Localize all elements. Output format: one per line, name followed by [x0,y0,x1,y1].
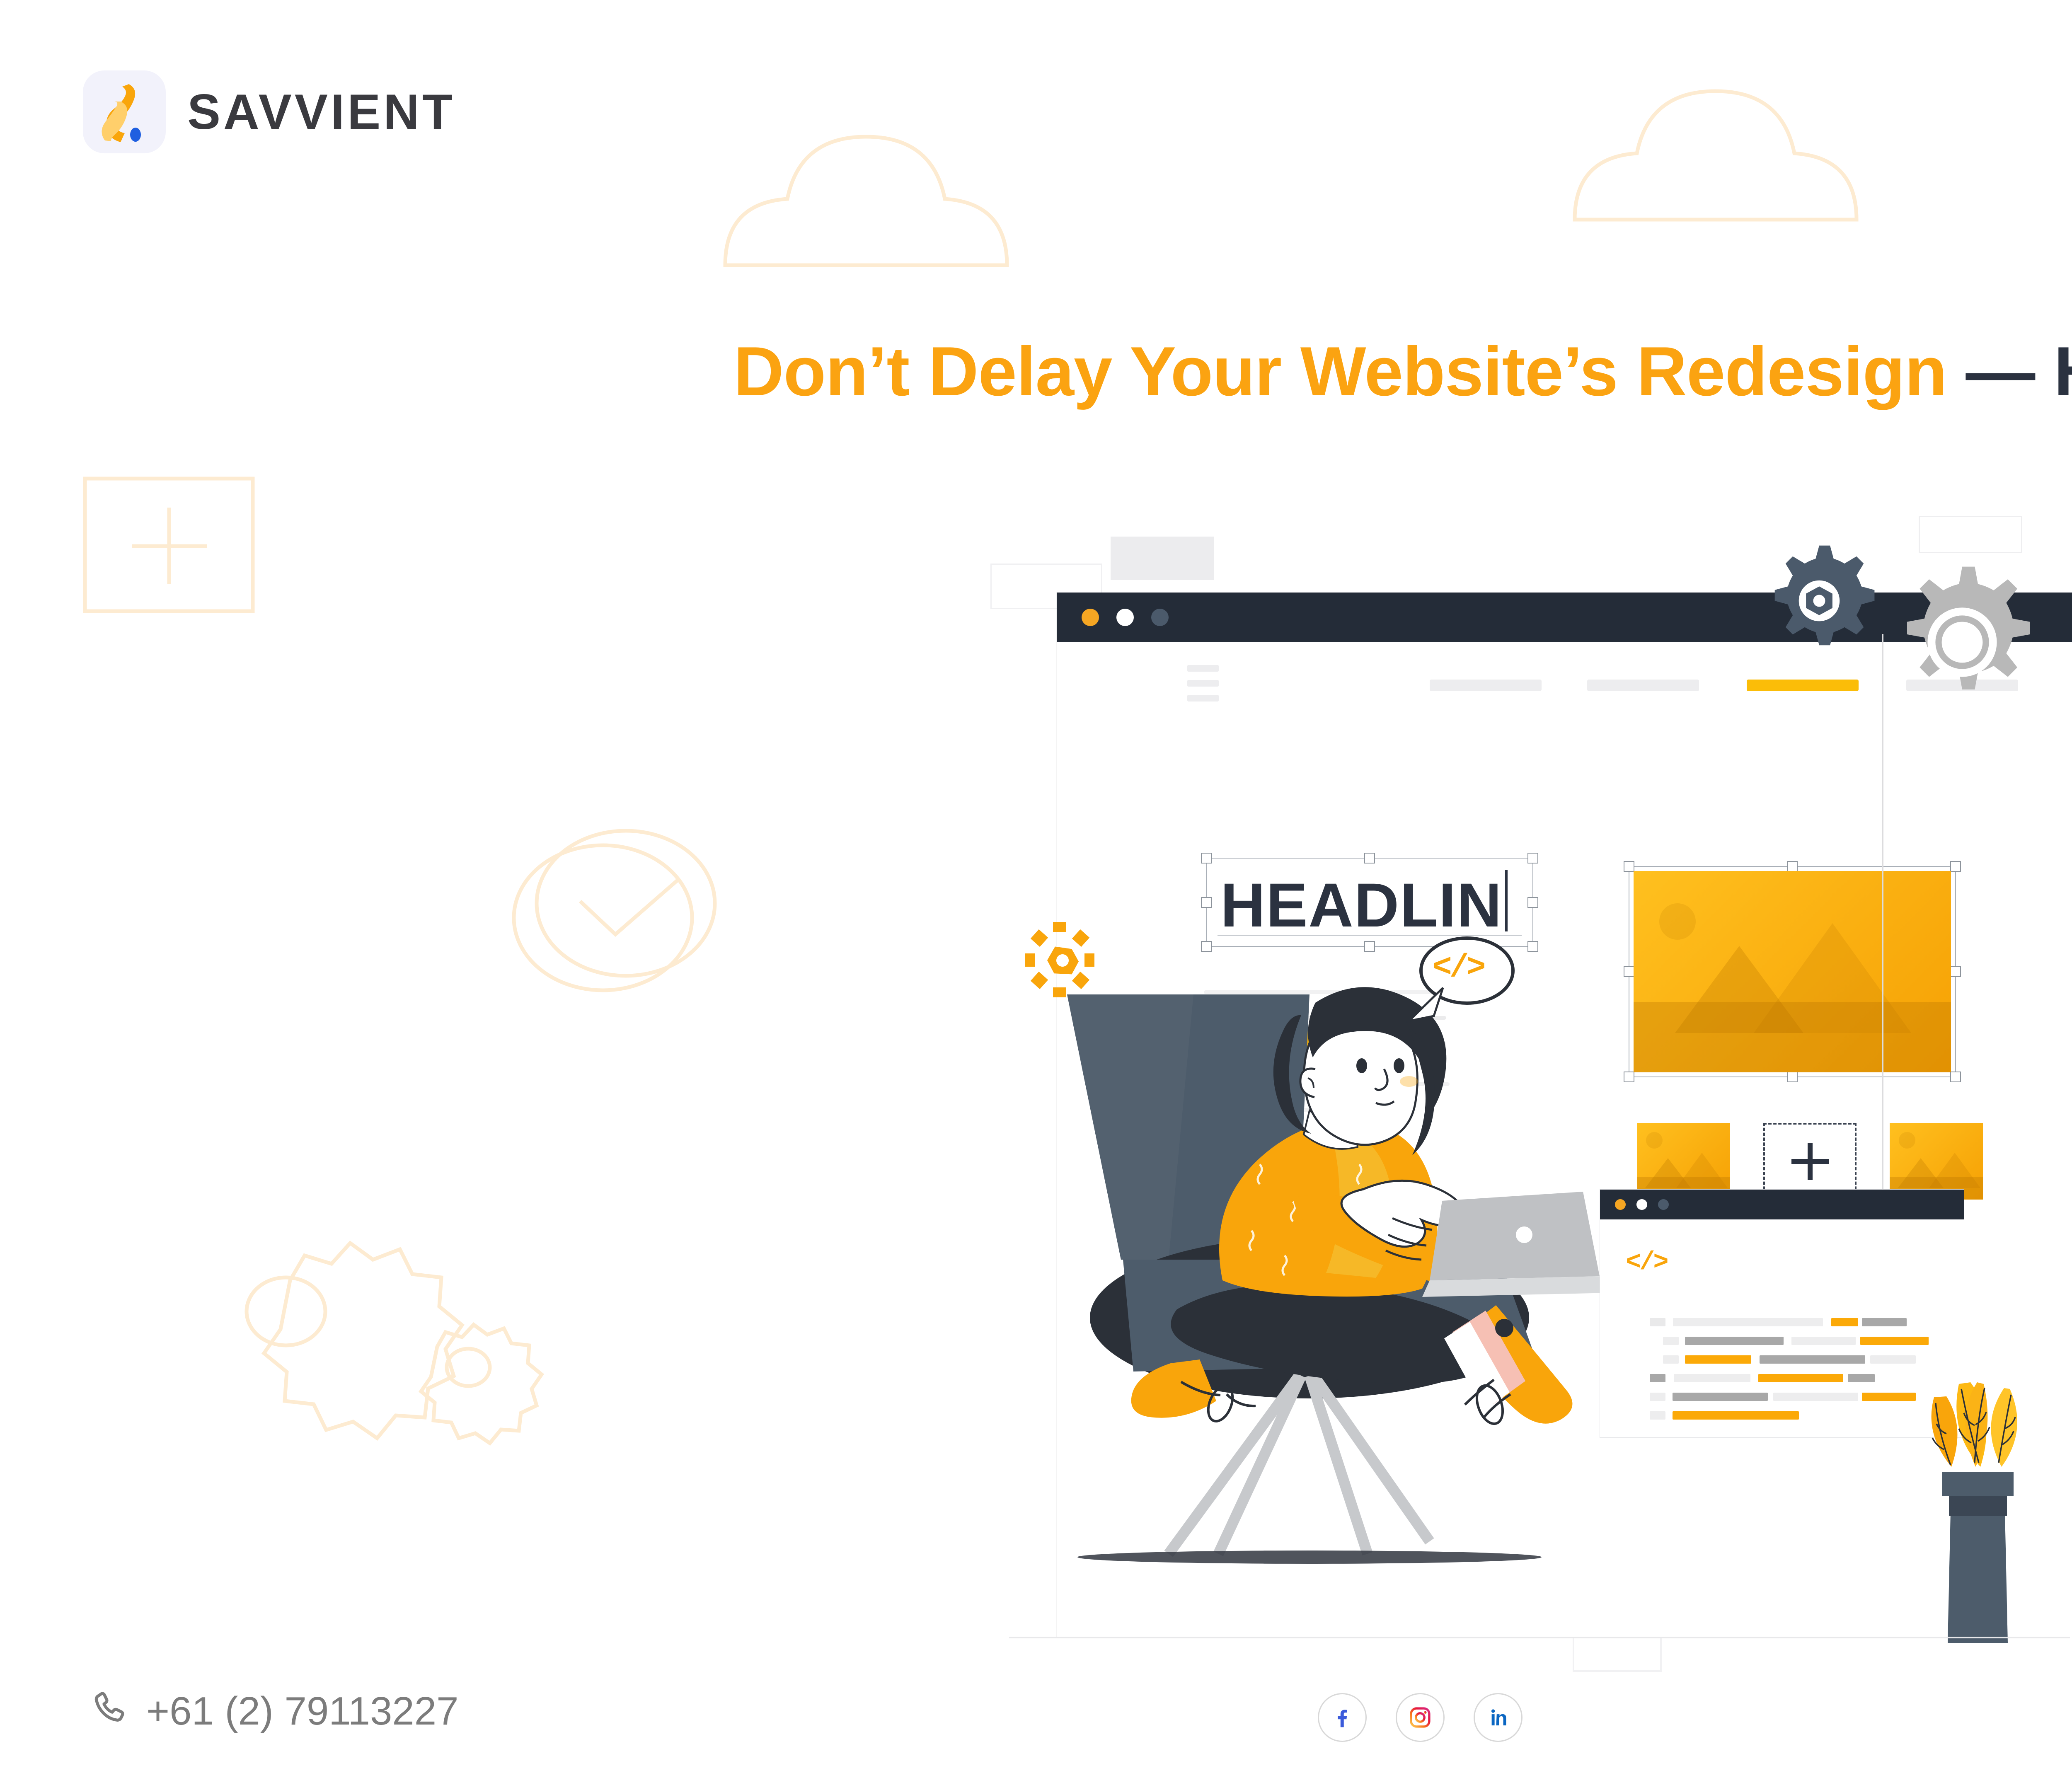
window-dot-orange[interactable] [1082,609,1099,626]
gear-dark-icon [1759,541,1879,661]
headline-mock-text: HEADLIN [1220,869,1503,941]
add-image-placeholder[interactable] [1763,1123,1857,1200]
social-instagram-button[interactable] [1396,1693,1445,1742]
potted-plant [1912,1396,2049,1653]
cloud-icon [725,137,1007,265]
code-line-seg [1870,1355,1916,1364]
plus-box-icon [85,479,253,611]
text-baseline [1218,935,1522,936]
page-title-highlight: Don’t Delay Your Website’s Redesign [733,332,1946,410]
code-line-seg [1673,1318,1823,1326]
social-links [1318,1693,1523,1742]
brand-header: SAVVIENT [83,70,455,153]
code-line-seg [1650,1374,1665,1382]
brand-name: SAVVIENT [187,83,455,140]
nav-item-active[interactable] [1747,680,1859,691]
footer: +61 (2) 79113227 [0,1653,2072,1790]
phone-icon [89,1689,134,1734]
code-window-titlebar [1600,1190,1964,1219]
plant-leaves [1912,1380,2049,1488]
resize-handle-mr[interactable] [1950,966,1961,977]
code-line-seg [1773,1393,1858,1401]
window-dot-white[interactable] [1636,1199,1647,1210]
resize-handle-br[interactable] [1950,1072,1961,1082]
code-line-seg [1862,1318,1907,1326]
ground-shape [1634,1002,1951,1072]
burst-dia [1072,929,1089,947]
resize-handle-tr[interactable] [1950,861,1961,872]
burst-dia [1031,929,1048,947]
code-line-seg [1860,1337,1929,1345]
code-line-seg [1758,1374,1843,1382]
resize-handle-bc[interactable] [1787,1072,1798,1082]
hamburger-menu-icon[interactable] [1187,665,1219,701]
linkedin-icon [1486,1706,1510,1729]
floor-line [1009,1637,2070,1638]
headline-text-block[interactable]: HEADLIN [1206,858,1533,947]
code-line-seg [1663,1337,1679,1345]
code-line-seg [1663,1355,1679,1364]
code-line-seg [1650,1411,1665,1420]
hero-illustration: HEADLIN [990,510,2072,1662]
logo-badge[interactable] [83,70,166,153]
bg-card [1111,537,1214,580]
social-linkedin-button[interactable] [1474,1693,1523,1742]
image-content [1634,871,1951,1072]
bg-card [1919,516,2022,553]
code-line-seg [1760,1355,1865,1364]
resize-handle-mr[interactable] [1527,897,1538,908]
logo-dot [130,128,141,142]
code-symbol: </> [1626,1248,1667,1277]
cloud-icon [1575,91,1857,220]
facebook-icon [1331,1706,1354,1729]
gears-icon [247,1243,542,1443]
resize-handle-tl[interactable] [1624,861,1634,872]
resize-handle-tr[interactable] [1527,853,1538,864]
window-dot-orange[interactable] [1615,1199,1626,1210]
code-line-seg [1650,1393,1665,1401]
instagram-icon [1409,1706,1432,1729]
code-line-seg [1674,1374,1750,1382]
resize-handle-tc[interactable] [1787,861,1798,872]
pot-band [1949,1496,2007,1516]
resize-handle-tc[interactable] [1364,853,1375,864]
thumbnail-2[interactable] [1890,1123,1983,1200]
code-symbol: </> [1433,950,1483,986]
burst-sq [1025,953,1035,967]
window-dot-slate[interactable] [1151,609,1169,626]
code-line-seg [1791,1337,1856,1345]
code-line-seg [1685,1355,1751,1364]
code-line-seg [1848,1374,1875,1382]
code-line-seg [1673,1393,1768,1401]
nav-item-1[interactable] [1430,680,1542,691]
resize-handle-tl[interactable] [1201,853,1212,864]
window-dot-white[interactable] [1116,609,1134,626]
hero-image-placeholder[interactable] [1629,866,1956,1077]
code-line-seg [1862,1393,1916,1401]
person-in-chair [1044,945,1658,1628]
code-editor-window: </> [1600,1189,1964,1438]
burst-sq [1053,922,1066,932]
page-title: Don’t Delay Your Website’s Redesign — He… [0,331,2072,411]
sun-shape [1659,903,1696,940]
savvient-logo-icon [97,81,151,143]
nav-item-2[interactable] [1587,680,1699,691]
code-line-seg [1673,1411,1799,1420]
speech-bubble-tail [1405,985,1450,1031]
resize-handle-ml[interactable] [1201,897,1212,908]
page-title-tail: — Here’s Why! [1965,332,2072,410]
sun-shape [1899,1132,1915,1149]
phone-number: +61 (2) 79113227 [146,1688,459,1734]
phone-contact[interactable]: +61 (2) 79113227 [89,1688,459,1734]
social-facebook-button[interactable] [1318,1693,1367,1742]
window-dot-slate[interactable] [1658,1199,1669,1210]
text-caret [1505,870,1508,931]
code-line-seg [1650,1318,1665,1326]
code-line-seg [1831,1318,1858,1326]
code-line-seg [1685,1337,1784,1345]
check-circle-icon [537,831,715,976]
gear-light-icon [1883,564,2041,721]
